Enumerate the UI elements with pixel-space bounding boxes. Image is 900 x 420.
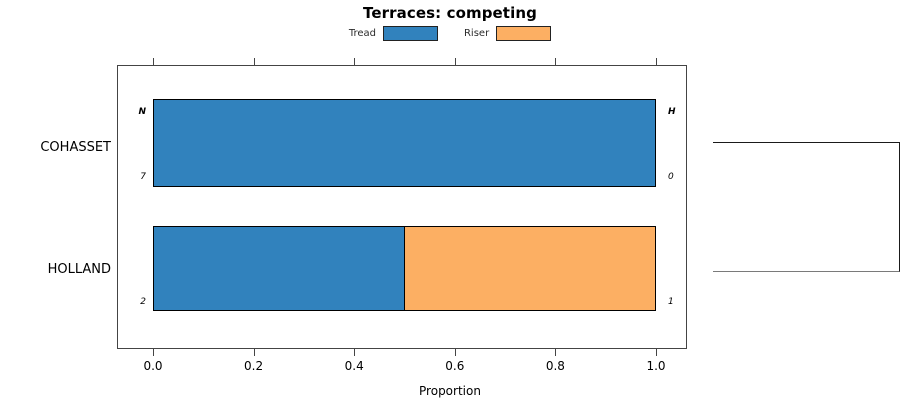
x-axis-tick-top-2 [354, 58, 355, 65]
x-axis-tick-label-3: 0.6 [425, 359, 485, 373]
x-axis-tick-label-4: 0.8 [525, 359, 585, 373]
legend-entry-riser[interactable]: Riser [464, 26, 551, 41]
legend-swatch-tread [383, 26, 438, 41]
side-panel [713, 142, 900, 272]
x-axis-tick-label-2: 0.4 [324, 359, 384, 373]
x-axis-tick-top-0 [153, 58, 154, 65]
legend-label-riser: Riser [464, 28, 489, 39]
x-axis-tick-top-1 [254, 58, 255, 65]
x-axis-tick-label-0: 0.0 [123, 359, 183, 373]
x-axis-tick-3 [455, 349, 456, 356]
legend-entry-tread[interactable]: Tread [349, 26, 438, 41]
x-axis-tick-top-5 [656, 58, 657, 65]
annotation-holland-right-bottom: 1 [668, 297, 692, 307]
bar-segment-holland-tread[interactable] [153, 226, 405, 311]
legend-swatch-riser [496, 26, 551, 41]
annotation-cohasset-right-top: H [668, 107, 692, 117]
bar-segment-holland-riser[interactable] [404, 226, 656, 311]
x-axis-tick-1 [254, 349, 255, 356]
x-axis-tick-2 [354, 349, 355, 356]
annotation-cohasset-left-top: N [122, 107, 146, 117]
x-axis-tick-label-5: 1.0 [626, 359, 686, 373]
y-axis-label-holland: HOLLAND [48, 262, 111, 277]
chart-legend: Tread Riser [0, 26, 900, 41]
x-axis-title: Proportion [0, 384, 900, 398]
bar-segment-cohasset-tread[interactable] [153, 99, 656, 187]
annotation-holland-left-bottom: 2 [122, 297, 146, 307]
legend-label-tread: Tread [349, 28, 376, 39]
chart-canvas: Terraces: competing Tread Riser COHASSET… [0, 0, 900, 420]
x-axis-tick-top-4 [555, 58, 556, 65]
annotation-cohasset-left-bottom: 7 [122, 172, 146, 182]
x-axis-tick-label-1: 0.2 [224, 359, 284, 373]
x-axis-tick-top-3 [455, 58, 456, 65]
bar-row-cohasset [153, 99, 656, 187]
bar-row-holland [153, 226, 656, 311]
y-axis-label-cohasset: COHASSET [40, 140, 111, 155]
annotation-cohasset-right-bottom: 0 [668, 172, 692, 182]
x-axis-tick-5 [656, 349, 657, 356]
chart-title: Terraces: competing [0, 4, 900, 22]
x-axis-tick-0 [153, 349, 154, 356]
x-axis-tick-4 [555, 349, 556, 356]
